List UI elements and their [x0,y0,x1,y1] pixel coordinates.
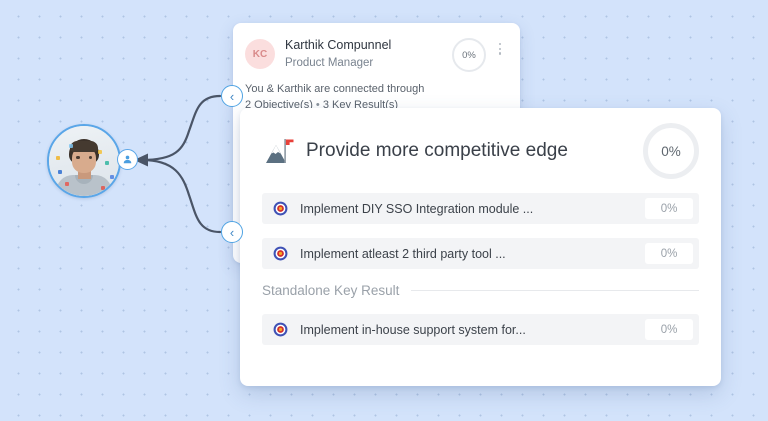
key-result-progress: 0% [645,243,693,264]
connector-node-bottom[interactable]: ‹ [221,221,243,243]
kebab-menu-icon[interactable] [492,43,508,55]
avatar-ring [47,124,121,198]
key-result-label: Implement atleast 2 third party tool ... [300,247,645,261]
section-divider [411,290,699,291]
avatar[interactable] [47,124,121,198]
key-result-row[interactable]: Implement in-house support system for...… [262,314,699,345]
person-icon [122,154,133,165]
target-icon [273,201,288,216]
avatar-initials: KC [245,39,275,69]
key-result-progress: 0% [645,319,693,340]
key-result-label: Implement in-house support system for... [300,323,645,337]
key-result-row[interactable]: Implement DIY SSO Integration module ...… [262,193,699,224]
mountain-flag-icon [262,134,296,168]
person-badge-icon[interactable] [117,149,138,170]
standalone-section-header: Standalone Key Result [262,283,699,298]
objective-title: Provide more competitive edge [306,138,633,164]
chevron-left-icon: ‹ [230,226,234,239]
key-result-label: Implement DIY SSO Integration module ... [300,202,645,216]
person-progress-ring: 0% [452,38,486,72]
objective-progress-ring: 0% [643,123,699,179]
connection-line-1: You & Karthik are connected through [245,81,508,97]
person-card-header: KC Karthik Compunnel Product Manager 0% [233,23,520,72]
person-identity: Karthik Compunnel Product Manager [285,37,452,71]
chevron-left-icon: ‹ [230,90,234,103]
connector-path-top [142,96,220,160]
objective-panel[interactable]: Provide more competitive edge 0% Impleme… [240,108,721,386]
target-icon [273,322,288,337]
profile-photo [49,126,119,196]
okr-canvas: ‹ ‹ KC Karthik Compunnel Product Manager… [0,0,768,421]
objective-header: Provide more competitive edge 0% [240,108,721,189]
connector-path-bottom [142,160,220,232]
person-role: Product Manager [285,55,452,71]
person-name: Karthik Compunnel [285,37,452,53]
connector-node-top[interactable]: ‹ [221,85,243,107]
key-result-progress: 0% [645,198,693,219]
objective-body: Implement DIY SSO Integration module ...… [240,189,721,345]
standalone-heading: Standalone Key Result [262,283,411,298]
connection-summary: You & Karthik are connected through 2 Ob… [233,72,520,113]
key-result-row[interactable]: Implement atleast 2 third party tool ...… [262,238,699,269]
target-icon [273,246,288,261]
